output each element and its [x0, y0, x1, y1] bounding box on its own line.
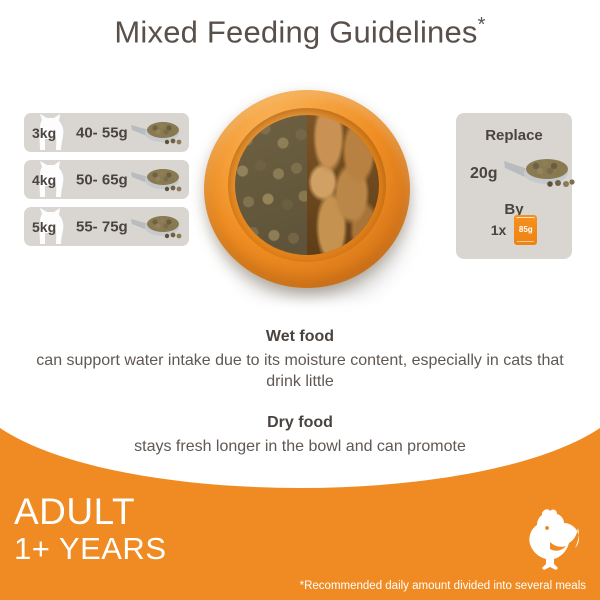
age-line-1: ADULT — [14, 493, 167, 530]
title-asterisk: * — [478, 14, 486, 36]
food-scoop-icon — [127, 116, 187, 150]
replace-quantity: 1x — [491, 222, 507, 238]
pet-food-bowl-image — [198, 84, 426, 299]
feeding-guidelines-infographic: Mixed Feeding Guidelines* 3kg 40- 55g — [0, 0, 600, 600]
bowl-food-area — [235, 115, 379, 255]
table-row: 3kg 40- 55g — [24, 113, 189, 152]
age-label: ADULT 1+ YEARS — [14, 493, 167, 564]
row-weight-label: 3kg — [32, 125, 56, 141]
row-weight-label: 5kg — [32, 219, 56, 235]
food-scoop-icon — [127, 163, 187, 197]
page-title-text: Mixed Feeding Guidelines — [114, 14, 477, 49]
page-title: Mixed Feeding Guidelines* — [0, 14, 600, 50]
table-row: 4kg 50- 65g — [24, 160, 189, 199]
replace-amount: 20g — [470, 165, 498, 183]
pouch-weight-label: 85g — [519, 226, 533, 234]
chicken-icon — [520, 506, 582, 572]
dry-food-half — [235, 115, 310, 255]
food-scoop-icon — [500, 151, 578, 195]
replace-panel: Replace 20g By 1x 85g — [456, 113, 572, 259]
footnote-text: *Recommended daily amount divided into s… — [300, 580, 586, 592]
feeding-weight-table: 3kg 40- 55g 4kg 50- 65g — [24, 113, 189, 254]
replace-title: Replace — [456, 127, 572, 144]
food-scoop-icon — [127, 210, 187, 244]
row-weight-label: 4kg — [32, 172, 56, 188]
wet-food-body: can support water intake due to its mois… — [0, 350, 600, 392]
replace-quantity-row: 1x 85g — [456, 215, 572, 245]
row-amount-label: 40- 55g — [76, 124, 128, 141]
age-line-2: 1+ YEARS — [14, 533, 167, 564]
row-amount-label: 50- 65g — [76, 171, 128, 188]
row-amount-label: 55- 75g — [76, 218, 128, 235]
wet-food-half — [307, 115, 379, 255]
wet-food-heading: Wet food — [0, 328, 600, 346]
table-row: 5kg 55- 75g — [24, 207, 189, 246]
wet-food-section: Wet food can support water intake due to… — [0, 328, 600, 392]
wet-food-pouch-icon: 85g — [514, 215, 537, 245]
footer-banner: ADULT 1+ YEARS *Recommended daily amount… — [0, 400, 600, 600]
